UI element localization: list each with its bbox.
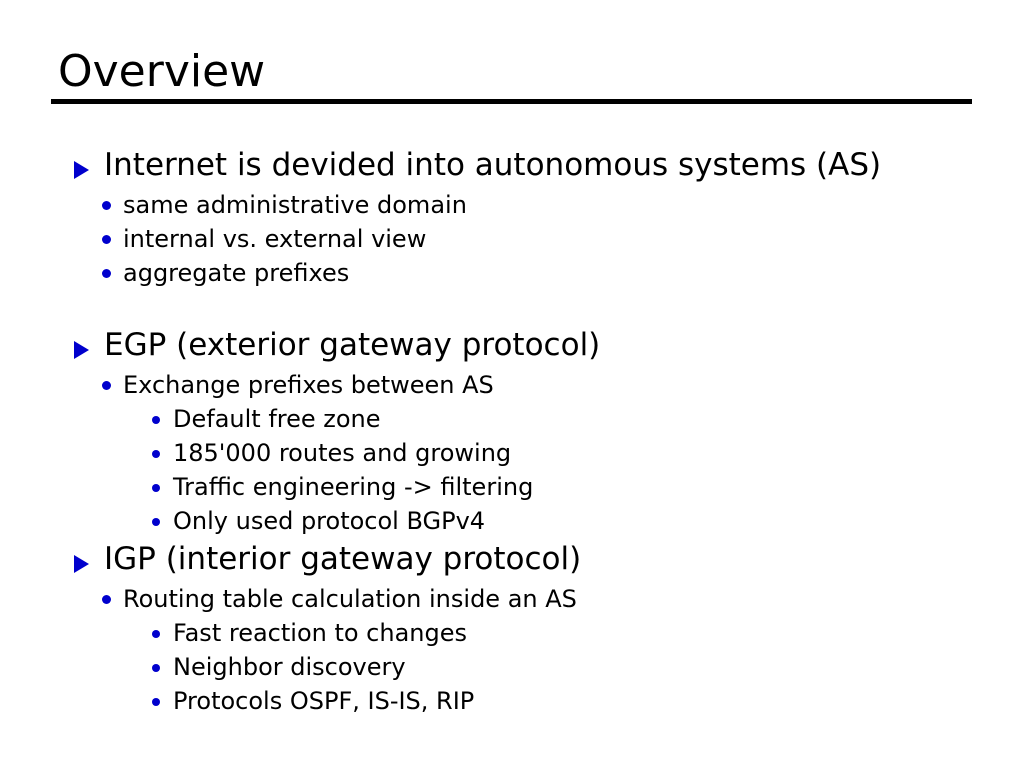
list-item-label: Routing table calculation inside an AS [123, 584, 577, 614]
list-item-label: Neighbor discovery [173, 652, 406, 682]
list-item: Neighbor discovery [0, 652, 1024, 686]
round-bullet-icon [102, 378, 123, 397]
round-bullet-icon [152, 412, 173, 431]
round-bullet-icon [152, 660, 173, 679]
list-item: Default free zone [0, 404, 1024, 438]
round-bullet-icon [152, 514, 173, 533]
page-title: Overview [58, 46, 265, 98]
list-item-label: same administrative domain [123, 190, 467, 220]
list-item-label: 185'000 routes and growing [173, 438, 511, 468]
list-item-label: aggregate prefixes [123, 258, 349, 288]
round-bullet-icon [152, 446, 173, 465]
list-item-label: Only used protocol BGPv4 [173, 506, 485, 536]
round-bullet-icon [102, 592, 123, 611]
list-item: internal vs. external view [0, 224, 1024, 258]
list-item-label: Traffic engineering -> filtering [173, 472, 533, 502]
presentation-slide: Overview Internet is devided into autono… [0, 0, 1024, 768]
list-item: same administrative domain [0, 190, 1024, 224]
list-item: Only used protocol BGPv4 [0, 506, 1024, 540]
list-item-label: internal vs. external view [123, 224, 426, 254]
list-item: aggregate prefixes [0, 258, 1024, 292]
triangle-right-bullet-icon [74, 159, 104, 179]
round-bullet-icon [102, 198, 123, 217]
round-bullet-icon [152, 694, 173, 713]
triangle-right-bullet-icon [74, 553, 104, 573]
list-item: Traffic engineering -> filtering [0, 472, 1024, 506]
list-item: Protocols OSPF, IS-IS, RIP [0, 686, 1024, 720]
list-item: IGP (interior gateway protocol) [0, 540, 1024, 584]
list-item-label: Fast reaction to changes [173, 618, 467, 648]
outline-body: Internet is devided into autonomous syst… [0, 146, 1024, 720]
list-item-label: Protocols OSPF, IS-IS, RIP [173, 686, 474, 716]
round-bullet-icon [102, 232, 123, 251]
round-bullet-icon [152, 626, 173, 645]
triangle-right-bullet-icon [74, 339, 104, 359]
round-bullet-icon [102, 266, 123, 285]
list-item-label: IGP (interior gateway protocol) [104, 540, 581, 578]
list-item: EGP (exterior gateway protocol) [0, 326, 1024, 370]
title-divider [51, 99, 972, 104]
list-item-label: Internet is devided into autonomous syst… [104, 146, 881, 184]
list-item: Internet is devided into autonomous syst… [0, 146, 1024, 190]
list-item-label: Default free zone [173, 404, 381, 434]
list-item: Fast reaction to changes [0, 618, 1024, 652]
list-item: Routing table calculation inside an AS [0, 584, 1024, 618]
round-bullet-icon [152, 480, 173, 499]
list-item-label: EGP (exterior gateway protocol) [104, 326, 600, 364]
list-item: Exchange prefixes between AS [0, 370, 1024, 404]
list-item: 185'000 routes and growing [0, 438, 1024, 472]
blank-line [0, 292, 1024, 326]
list-item-label: Exchange prefixes between AS [123, 370, 494, 400]
